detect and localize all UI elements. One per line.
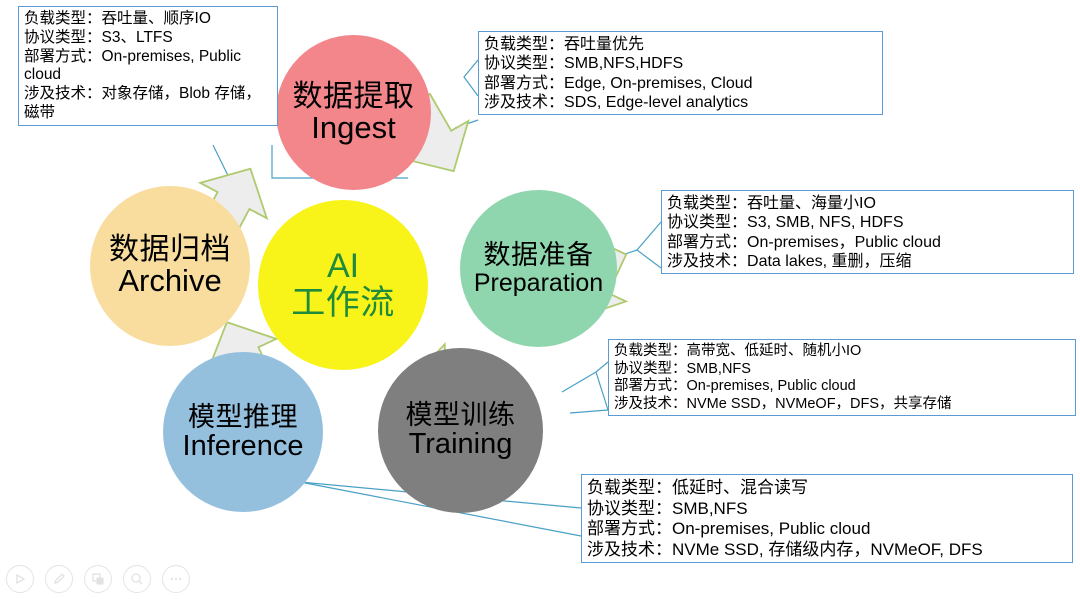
stage-circle-training[interactable]: 模型训练 Training bbox=[378, 348, 543, 513]
stage-circle-inference[interactable]: 模型推理 Inference bbox=[163, 352, 323, 512]
value-workload: 吞吐量、海量小IO bbox=[747, 195, 876, 212]
stage-label-cn: 数据准备 bbox=[484, 241, 594, 269]
info-row-technology: 涉及技术：NVMe SSD，NVMeOF，DFS，共享存储 bbox=[614, 396, 1070, 414]
value-technology: NVMe SSD，NVMeOF，DFS，共享存储 bbox=[687, 396, 952, 412]
stage-circle-archive[interactable]: 数据归档 Archive bbox=[90, 186, 250, 346]
play-icon bbox=[14, 573, 26, 585]
play-button[interactable] bbox=[6, 565, 34, 593]
info-box-training: 负载类型：高带宽、低延时、随机小IO 协议类型：SMB,NFS 部署方式：On-… bbox=[608, 339, 1076, 416]
stage-label-en: Inference bbox=[173, 432, 314, 461]
info-box-archive: 负载类型：吞吐量、顺序IO 协议类型：S3、LTFS 部署方式：On-premi… bbox=[18, 6, 278, 126]
info-row-deployment: 部署方式：On-premises，Public cloud bbox=[667, 233, 1068, 252]
info-row-protocol: 协议类型：S3, SMB, NFS, HDFS bbox=[667, 213, 1068, 232]
value-deployment: On-premises, Public cloud bbox=[687, 378, 856, 394]
value-deployment: Edge, On-premises, Cloud bbox=[564, 75, 753, 92]
label-deployment: 部署方式： bbox=[667, 234, 747, 251]
info-row-workload: 负载类型：吞吐量优先 bbox=[484, 35, 877, 54]
stage-label-en: Preparation bbox=[474, 270, 603, 296]
value-workload: 吞吐量优先 bbox=[564, 36, 644, 53]
info-row-workload: 负载类型：吞吐量、顺序IO bbox=[24, 10, 272, 29]
label-deployment: 部署方式： bbox=[24, 48, 102, 65]
search-button[interactable] bbox=[123, 565, 151, 593]
pages-icon bbox=[91, 572, 105, 586]
center-circle-ai-workflow[interactable]: AI 工作流 bbox=[258, 200, 428, 370]
value-protocol: S3, SMB, NFS, HDFS bbox=[747, 214, 903, 231]
stage-label-cn: 模型训练 bbox=[406, 401, 516, 429]
more-icon bbox=[169, 576, 183, 582]
value-technology: Data lakes, 重删，压缩 bbox=[747, 253, 912, 270]
more-button[interactable] bbox=[162, 565, 190, 593]
label-technology: 涉及技术： bbox=[587, 540, 672, 559]
label-technology: 涉及技术： bbox=[24, 85, 102, 102]
info-row-deployment: 部署方式：On-premises, Public cloud bbox=[24, 48, 272, 86]
label-workload: 负载类型： bbox=[587, 478, 672, 497]
label-protocol: 协议类型： bbox=[587, 499, 672, 518]
info-row-technology: 涉及技术：SDS, Edge-level analytics bbox=[484, 93, 877, 112]
label-workload: 负载类型： bbox=[614, 343, 687, 359]
label-technology: 涉及技术： bbox=[614, 396, 687, 412]
value-protocol: S3、LTFS bbox=[102, 29, 173, 46]
bottom-toolbar bbox=[6, 565, 190, 593]
info-row-workload: 负载类型：高带宽、低延时、随机小IO bbox=[614, 343, 1070, 361]
label-protocol: 协议类型： bbox=[667, 214, 747, 231]
center-label-cn: 工作流 bbox=[291, 286, 395, 321]
label-workload: 负载类型： bbox=[484, 36, 564, 53]
label-protocol: 协议类型： bbox=[484, 55, 564, 72]
label-deployment: 部署方式： bbox=[484, 75, 564, 92]
stage-label-cn: 数据归档 bbox=[109, 234, 231, 265]
info-row-workload: 负载类型：低延时、混合读写 bbox=[587, 478, 1067, 499]
value-deployment: On-premises，Public cloud bbox=[747, 234, 941, 251]
label-protocol: 协议类型： bbox=[614, 361, 687, 377]
info-row-technology: 涉及技术：Data lakes, 重删，压缩 bbox=[667, 252, 1068, 271]
search-icon bbox=[130, 572, 144, 586]
pen-button[interactable] bbox=[45, 565, 73, 593]
value-protocol: SMB,NFS,HDFS bbox=[564, 55, 683, 72]
value-workload: 低延时、混合读写 bbox=[672, 478, 808, 497]
label-protocol: 协议类型： bbox=[24, 29, 102, 46]
stage-label-en: Training bbox=[409, 429, 513, 459]
info-row-workload: 负载类型：吞吐量、海量小IO bbox=[667, 194, 1068, 213]
value-workload: 吞吐量、顺序IO bbox=[102, 10, 211, 27]
value-protocol: SMB,NFS bbox=[687, 361, 751, 377]
stage-label-cn: 数据提取 bbox=[293, 81, 415, 112]
info-box-ingest: 负载类型：吞吐量优先 协议类型：SMB,NFS,HDFS 部署方式：Edge, … bbox=[478, 31, 883, 115]
pen-icon bbox=[52, 572, 66, 586]
label-workload: 负载类型： bbox=[667, 195, 747, 212]
stage-label-cn: 模型推理 bbox=[188, 403, 298, 431]
stage-label-en: Ingest bbox=[311, 112, 395, 144]
value-protocol: SMB,NFS bbox=[672, 499, 748, 518]
label-technology: 涉及技术： bbox=[484, 94, 564, 111]
info-row-technology: 涉及技术：NVMe SSD, 存储级内存，NVMeOF, DFS bbox=[587, 540, 1067, 561]
value-technology: NVMe SSD, 存储级内存，NVMeOF, DFS bbox=[672, 540, 983, 559]
info-box-preparation: 负载类型：吞吐量、海量小IO 协议类型：S3, SMB, NFS, HDFS 部… bbox=[661, 190, 1074, 274]
info-row-deployment: 部署方式：On-premises, Public cloud bbox=[587, 519, 1067, 540]
info-row-protocol: 协议类型：S3、LTFS bbox=[24, 29, 272, 48]
center-label-en: AI bbox=[327, 249, 359, 284]
label-deployment: 部署方式： bbox=[614, 378, 687, 394]
info-row-deployment: 部署方式：Edge, On-premises, Cloud bbox=[484, 74, 877, 93]
label-deployment: 部署方式： bbox=[587, 519, 672, 538]
value-deployment: On-premises, Public cloud bbox=[672, 519, 870, 538]
info-box-inference: 负载类型：低延时、混合读写 协议类型：SMB,NFS 部署方式：On-premi… bbox=[581, 474, 1073, 563]
info-row-technology: 涉及技术：对象存储，Blob 存储，磁带 bbox=[24, 85, 272, 123]
stage-circle-preparation[interactable]: 数据准备 Preparation bbox=[460, 190, 617, 347]
stage-label-en: Archive bbox=[118, 265, 221, 297]
value-workload: 高带宽、低延时、随机小IO bbox=[687, 343, 862, 359]
value-technology: SDS, Edge-level analytics bbox=[564, 94, 748, 111]
info-row-protocol: 协议类型：SMB,NFS bbox=[587, 499, 1067, 520]
pages-button[interactable] bbox=[84, 565, 112, 593]
stage-circle-ingest[interactable]: 数据提取 Ingest bbox=[276, 35, 431, 190]
info-row-protocol: 协议类型：SMB,NFS,HDFS bbox=[484, 54, 877, 73]
diagram-canvas: 数据提取 Ingest 数据归档 Archive 数据准备 Preparatio… bbox=[0, 0, 1080, 599]
info-row-deployment: 部署方式：On-premises, Public cloud bbox=[614, 378, 1070, 396]
label-workload: 负载类型： bbox=[24, 10, 102, 27]
label-technology: 涉及技术： bbox=[667, 253, 747, 270]
info-row-protocol: 协议类型：SMB,NFS bbox=[614, 361, 1070, 379]
